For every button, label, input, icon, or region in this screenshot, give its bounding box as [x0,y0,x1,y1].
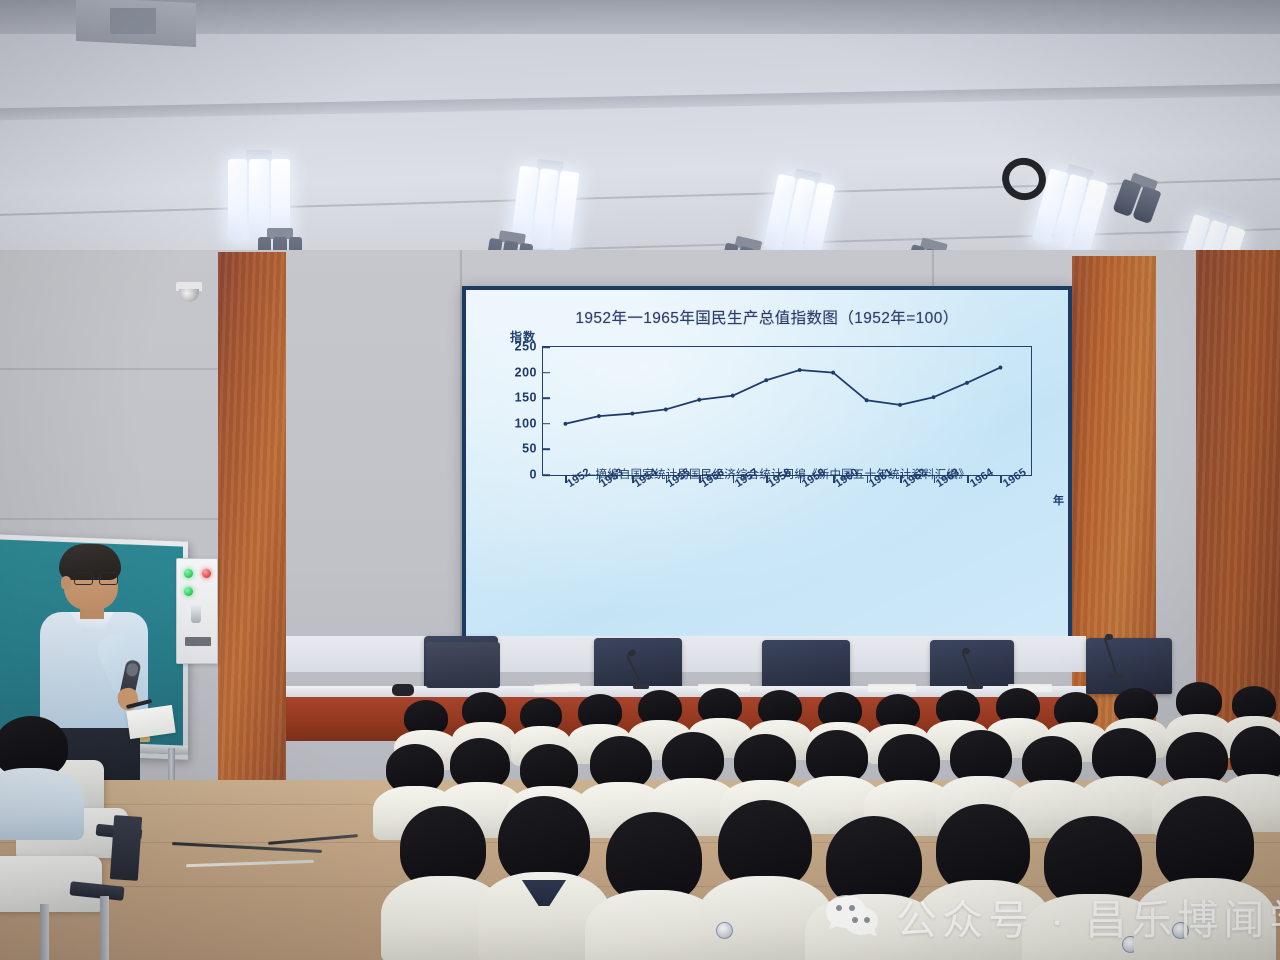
data-point [564,422,568,426]
y-tick-label: 50 [522,442,543,456]
school-crest [716,922,733,939]
data-point [898,403,902,407]
slide-source-note: ——摘编自国家统计局国民经济综合统计司编《新中国五十年统计资料汇编》 [486,466,1056,482]
seat-leg [100,896,109,960]
y-tick-label: 250 [515,340,543,354]
data-point [597,414,601,418]
indicator-led-green [184,569,193,578]
data-point [664,407,668,411]
watermark-text: 公众号 · 昌乐博闻学校 [896,886,1280,946]
chart-line-series [543,347,1031,475]
desk-microphone [1108,636,1124,676]
desk-microphone [966,650,984,686]
projection-screen: 1952年一1965年国民生产总值指数图（1952年=100） 指数 05010… [462,286,1072,654]
student [498,796,590,946]
seat-leg [40,904,49,960]
chart-plot-area: 050100150200250 [542,346,1032,476]
y-tick-mark [543,397,550,399]
data-point [865,398,869,402]
data-point [798,368,802,372]
ceiling-duct-notch [110,8,156,34]
data-point [630,412,634,416]
control-knob[interactable] [191,605,201,623]
student [718,800,812,952]
table-object-dark [392,684,414,696]
panel-chair [762,640,850,692]
indicator-led-red [202,569,211,578]
wall-control-panel[interactable] [176,558,218,664]
student [806,730,868,824]
slide-content: 1952年一1965年国民生产总值指数图（1952年=100） 指数 05010… [466,290,1068,650]
wooden-pillar-left [218,252,286,812]
data-point [764,378,768,382]
eyeglasses-icon [74,572,118,583]
data-point [731,394,735,398]
ceiling-light-fixture [765,165,838,251]
photo-scene: 1952年一1965年国民生产总值指数图（1952年=100） 指数 05010… [0,0,1280,960]
wall-seam [0,518,230,520]
wechat-logo-icon [826,893,882,939]
student [1092,728,1156,824]
student [1022,736,1082,828]
ceiling-light-fixture [511,157,580,244]
panel-chair [1086,638,1172,694]
data-point [999,366,1003,370]
y-tick-label: 100 [515,417,543,431]
student [0,716,68,834]
ceiling-light-fixture-off [1115,170,1164,216]
paper-sheet [534,683,580,693]
paper-sheet [868,684,916,692]
ceiling-light-fixture [228,150,290,232]
laptop-screen [426,642,500,688]
data-point [965,381,969,385]
watermark: 公众号 · 昌乐博闻学校 [826,886,1280,946]
x-axis-unit: 年 [1053,492,1064,508]
data-point [697,398,701,402]
wall-seam [0,368,230,370]
indicator-led-green [184,587,193,596]
student [606,812,702,960]
data-point [932,395,936,399]
ceiling-beam-mid [0,84,1280,121]
desk-microphone [632,652,650,686]
y-tick-label: 150 [515,391,543,405]
teacher-ear [61,576,71,590]
student [400,806,486,946]
control-slot [185,637,211,646]
slide-title: 1952年一1965年国民生产总值指数图（1952年=100） [484,306,1050,328]
y-tick-mark [543,372,550,374]
y-tick-label: 200 [515,365,543,379]
y-tick-mark [543,423,550,425]
y-tick-mark [543,346,550,348]
flip-desk[interactable] [110,815,142,881]
data-point [831,371,835,375]
chart: 指数 050100150200250 195219531954195519561… [484,340,1050,530]
x-axis-labels: 1952195319541955195619571958195919601961… [542,480,1032,526]
ceiling [0,0,1280,268]
student [878,734,940,826]
y-tick-mark [543,449,550,451]
